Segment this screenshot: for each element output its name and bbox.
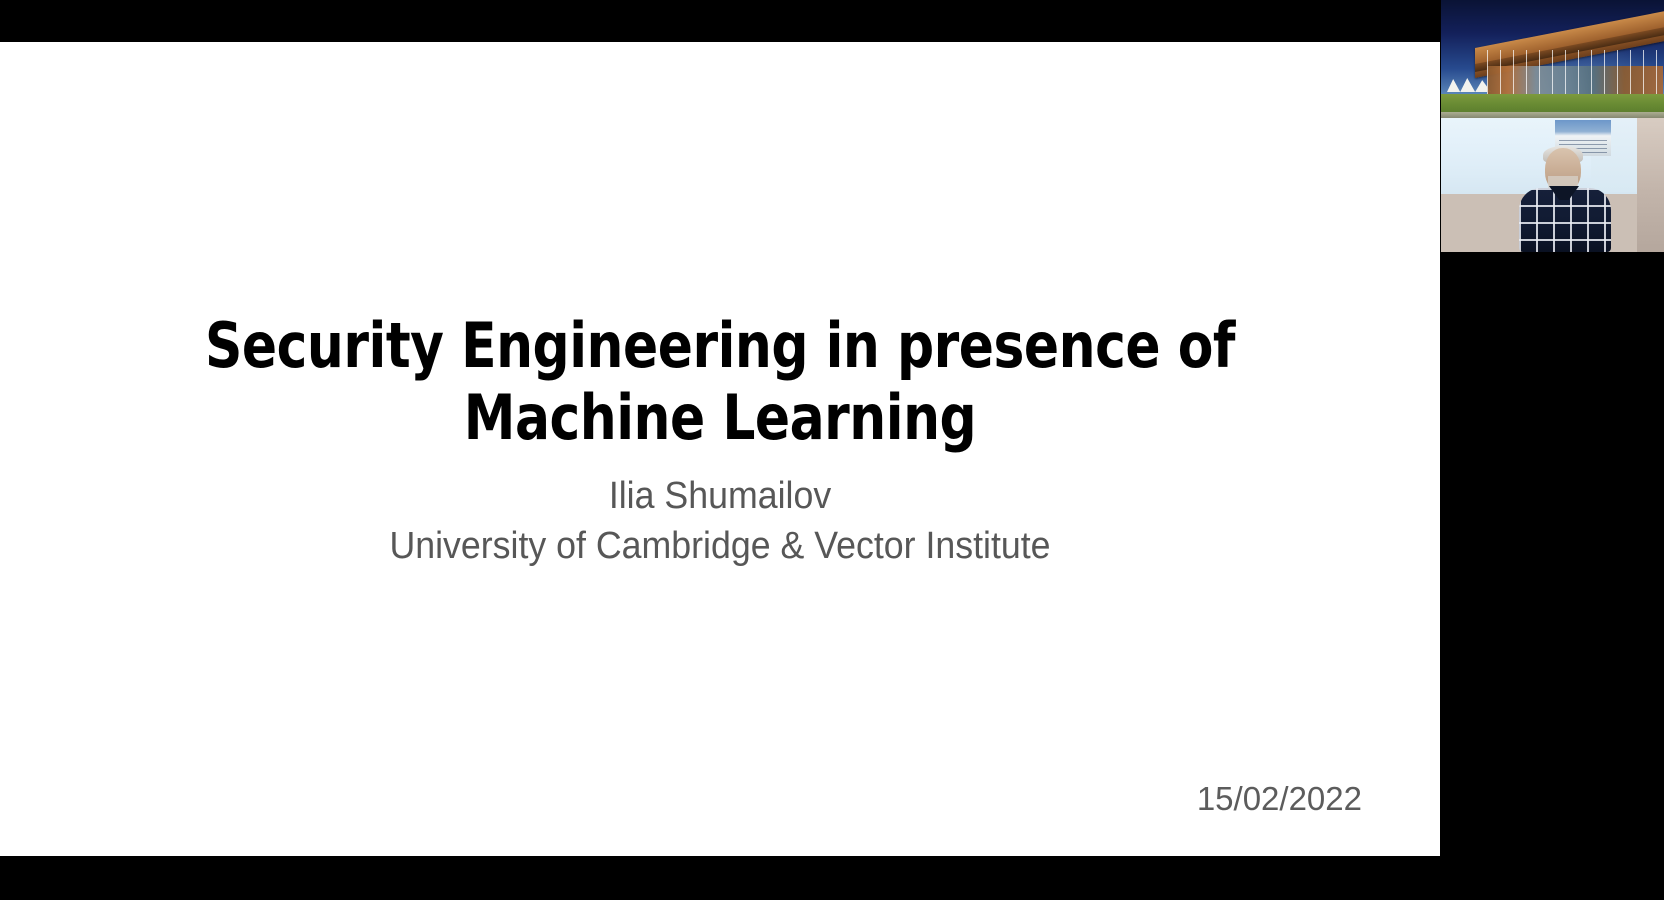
building-columns — [1487, 50, 1663, 98]
projected-building-photo — [1441, 0, 1664, 118]
slide-subtitle-block: Ilia Shumailov University of Cambridge &… — [130, 474, 1310, 569]
marquee-tents — [1447, 74, 1491, 92]
presenter-figure — [1519, 148, 1611, 252]
room-wall-right — [1637, 118, 1664, 252]
slide-title-line-2: Machine Learning — [171, 382, 1268, 454]
lecture-room-scene — [1441, 118, 1664, 252]
speaker-webcam-overlay[interactable] — [1441, 0, 1664, 252]
presentation-slide: Security Engineering in presence of Mach… — [0, 42, 1440, 856]
author-affiliation: University of Cambridge & Vector Institu… — [165, 524, 1274, 570]
slide-title-line-1: Security Engineering in presence of — [171, 310, 1268, 382]
slide-content: Security Engineering in presence of Mach… — [0, 42, 1440, 856]
slide-date: 15/02/2022 — [1197, 780, 1362, 818]
video-player-stage: Security Engineering in presence of Mach… — [0, 0, 1664, 900]
author-name: Ilia Shumailov — [165, 474, 1274, 520]
slide-title-block: Security Engineering in presence of Mach… — [130, 310, 1310, 454]
